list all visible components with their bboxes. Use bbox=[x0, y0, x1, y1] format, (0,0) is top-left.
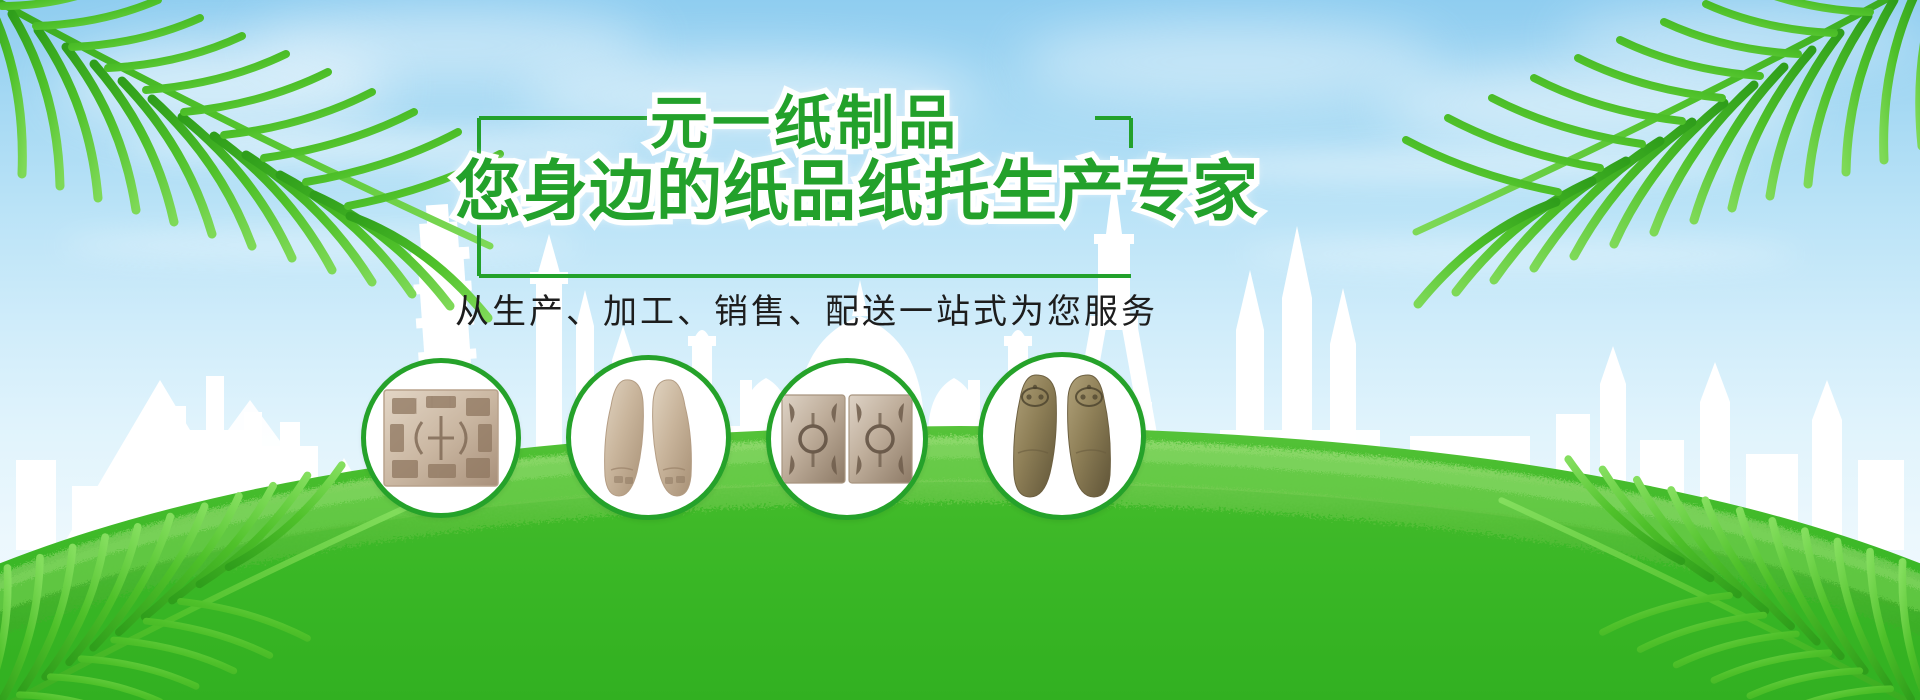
molded-pulp-shoe-form-pair bbox=[1006, 369, 1118, 503]
headline-text: 您身边的纸品纸托生产专家 bbox=[455, 156, 1155, 228]
headline-block: 元一纸制品 您身边的纸品纸托生产专家 bbox=[455, 86, 1155, 286]
palm-frond-icon bbox=[0, 0, 510, 356]
product-circle-4[interactable] bbox=[978, 352, 1146, 520]
brand-title: 元一纸制品 bbox=[455, 92, 1155, 154]
molded-pulp-shoe-insole-pair bbox=[597, 372, 701, 504]
subtitle-text: 从生产、加工、销售、配送一站式为您服务 bbox=[455, 290, 1155, 334]
product-circle-1[interactable] bbox=[361, 358, 521, 518]
product-circle-2[interactable] bbox=[566, 355, 731, 520]
palm-frond-icon bbox=[1396, 0, 1920, 342]
palm-frond-icon bbox=[1470, 406, 1920, 700]
promo-banner: 元一纸制品 您身边的纸品纸托生产专家 从生产、加工、销售、配送一站式为您服务 bbox=[0, 0, 1920, 700]
molded-pulp-tray-pair bbox=[781, 393, 913, 485]
molded-pulp-tray-square bbox=[382, 388, 500, 488]
product-circle-3[interactable] bbox=[766, 358, 928, 520]
